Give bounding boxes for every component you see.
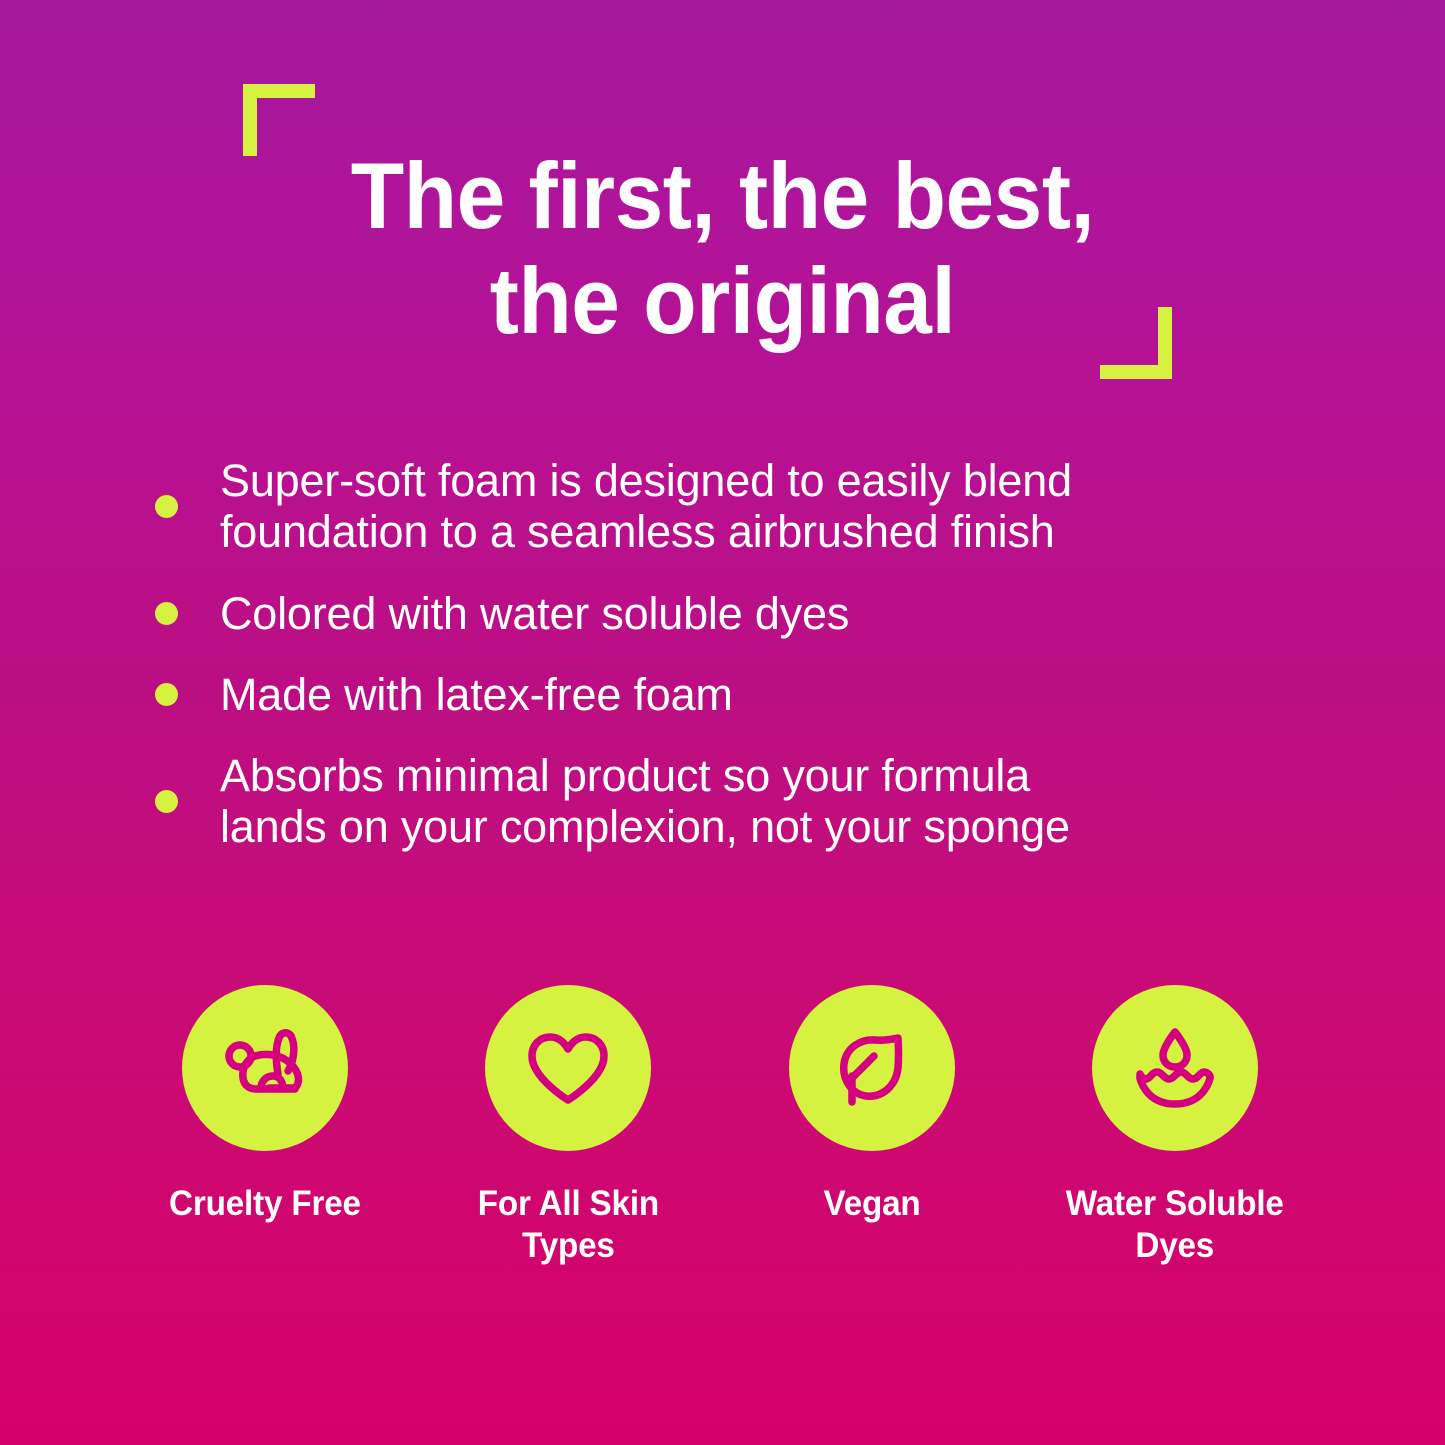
- list-item-label: Colored with water soluble dyes: [220, 588, 849, 639]
- list-item: Colored with water soluble dyes: [155, 588, 1315, 639]
- badge-circle: [182, 985, 348, 1151]
- heart-icon: [516, 1016, 620, 1120]
- feature-list: Super-soft foam is designed to easily bl…: [155, 455, 1315, 853]
- list-item-label: Made with latex-free foam: [220, 669, 733, 720]
- bullet-dot-icon: [155, 790, 178, 813]
- badge-row: Cruelty Free For All Skin Types: [140, 985, 1300, 1267]
- badge-label: For All Skin Types: [478, 1183, 659, 1267]
- product-feature-poster: The first, the best, the original Super-…: [0, 0, 1445, 1445]
- water-droplet-icon: [1123, 1016, 1227, 1120]
- bullet-dot-icon: [155, 495, 178, 518]
- badge-water-soluble-dyes: Water Soluble Dyes: [1050, 985, 1300, 1267]
- badge-label: Cruelty Free: [169, 1183, 361, 1225]
- badge-label: Vegan: [823, 1183, 920, 1225]
- badge-cruelty-free: Cruelty Free: [140, 985, 390, 1267]
- leaf-icon: [820, 1016, 924, 1120]
- rabbit-icon: [209, 1012, 321, 1124]
- page-title: The first, the best, the original: [51, 143, 1395, 354]
- badge-label: Water Soluble Dyes: [1066, 1183, 1284, 1267]
- list-item-label: Absorbs minimal product so your formula …: [220, 750, 1070, 853]
- list-item: Super-soft foam is designed to easily bl…: [155, 455, 1315, 558]
- list-item-label: Super-soft foam is designed to easily bl…: [220, 455, 1072, 558]
- badge-circle: [789, 985, 955, 1151]
- bullet-dot-icon: [155, 602, 178, 625]
- badge-circle: [1092, 985, 1258, 1151]
- list-item: Made with latex-free foam: [155, 669, 1315, 720]
- list-item: Absorbs minimal product so your formula …: [155, 750, 1315, 853]
- badge-for-all-skin-types: For All Skin Types: [443, 985, 693, 1267]
- badge-vegan: Vegan: [747, 985, 997, 1267]
- badge-circle: [485, 985, 651, 1151]
- bullet-dot-icon: [155, 683, 178, 706]
